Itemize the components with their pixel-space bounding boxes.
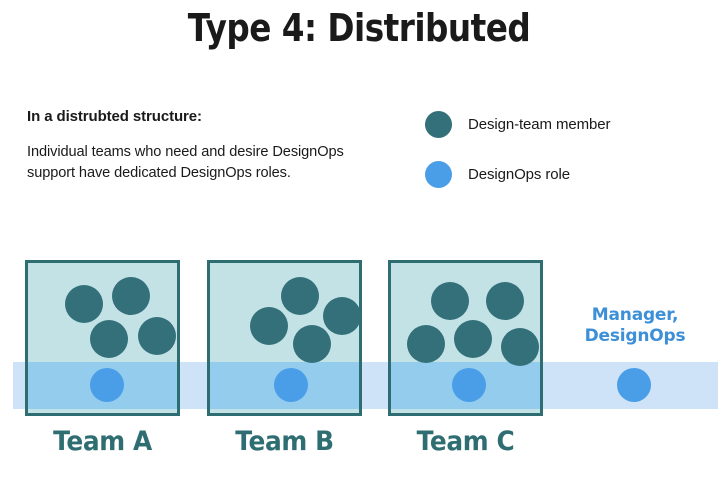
ops-dot [274,368,308,402]
member-dot [323,297,361,335]
member-dot [486,282,524,320]
member-dot [293,325,331,363]
member-dot [90,320,128,358]
ops-dot [90,368,124,402]
manager-label-line2: DesignOps [585,326,686,346]
member-dot [501,328,539,366]
team-box-c [388,260,543,416]
team-label-b: Team B [213,426,356,457]
member-dot [431,282,469,320]
team-box-b [207,260,362,416]
member-dot [407,325,445,363]
team-box-a [25,260,180,416]
team-label-a: Team A [31,426,174,457]
member-dot [65,285,103,323]
member-dot [250,307,288,345]
manager-ops-dot [617,368,651,402]
team-label-c: Team C [394,426,537,457]
manager-designops-label: Manager, DesignOps [555,305,715,347]
member-dot [281,277,319,315]
member-dot [138,317,176,355]
ops-dot [452,368,486,402]
manager-label-line1: Manager, [592,305,678,325]
member-dot [112,277,150,315]
diagram-stage: Team A Team B Team C Manager, DesignOps [0,0,718,495]
member-dot [454,320,492,358]
